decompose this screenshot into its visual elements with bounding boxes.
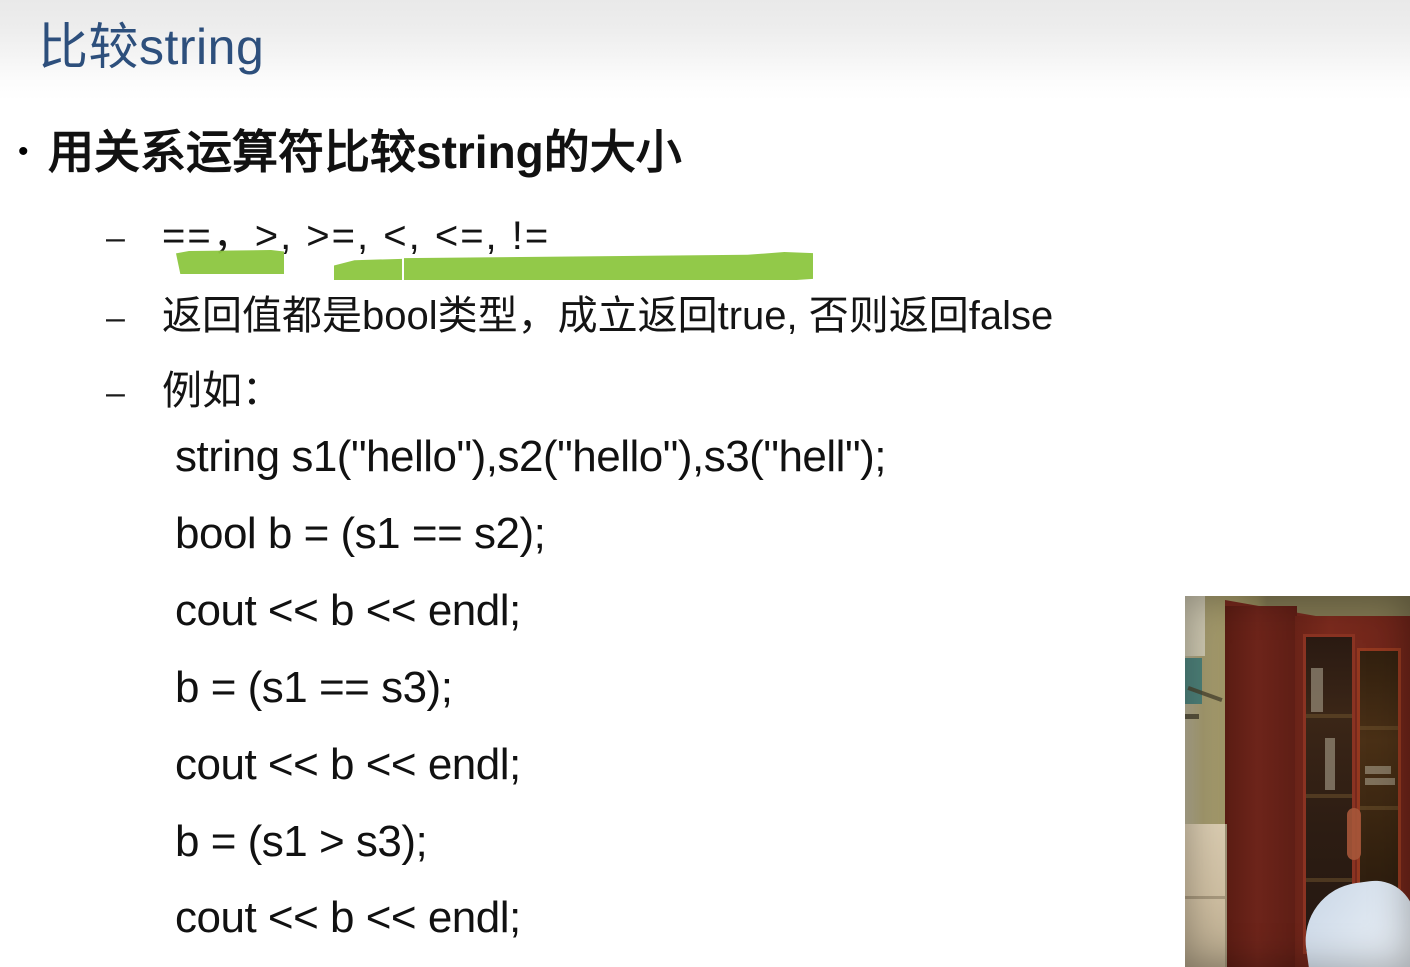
webcam-shelf [1306, 714, 1352, 718]
webcam-shelf [1306, 794, 1352, 798]
webcam-cabinet-side-panel [1225, 606, 1297, 967]
bullet-item-operators: – ==，>, >=, <, <=, != [106, 203, 550, 261]
presentation-slide: 比较string • 用关系运算符比较string的大小 – ==，>, >=,… [0, 0, 1410, 967]
bullet-item-return-type: – 返回值都是bool类型，成立返回true, 否则返回false [106, 283, 1053, 341]
dash-marker-icon: – [106, 299, 162, 338]
webcam-wall-teal-object [1185, 658, 1202, 704]
dash-marker-icon: – [106, 219, 162, 258]
code-line: cout << b << endl; [175, 586, 521, 636]
code-line: bool b = (s1 == s2); [175, 509, 545, 559]
webcam-wall-hook-second [1185, 714, 1199, 719]
code-line: cout << b << endl; [175, 740, 521, 790]
webcam-book [1325, 738, 1335, 790]
webcam-shelf [1306, 878, 1352, 882]
highlight-stroke-equality [176, 250, 284, 274]
bullet-item-level1: • 用关系运算符比较string的大小 [14, 122, 682, 182]
webcam-cabinet-handle [1347, 808, 1361, 860]
bullet-item-level1-label: 用关系运算符比较string的大小 [48, 122, 682, 182]
code-line: b = (s1 == s3); [175, 663, 452, 713]
webcam-shelf [1360, 726, 1398, 730]
webcam-cardboard-box-edge [1185, 896, 1225, 899]
bullet-dot-icon: • [14, 122, 48, 182]
bullet-item-example: – 例如： [106, 358, 282, 416]
webcam-shelf [1360, 806, 1398, 810]
bullet-item-example-label: 例如： [162, 358, 282, 416]
webcam-book [1365, 778, 1395, 785]
webcam-book [1365, 766, 1391, 774]
dash-marker-icon: – [106, 374, 162, 413]
highlight-stroke-greater [334, 258, 402, 280]
webcam-wall-poster [1185, 596, 1205, 656]
presenter-webcam-overlay [1185, 596, 1410, 967]
webcam-book [1311, 668, 1323, 712]
code-line: b = (s1 > s3); [175, 817, 427, 867]
code-line: cout << b << endl; [175, 893, 521, 943]
code-line: string s1("hello"),s2("hello"),s3("hell"… [175, 432, 886, 482]
bullet-item-return-type-label: 返回值都是bool类型，成立返回true, 否则返回false [162, 283, 1053, 341]
